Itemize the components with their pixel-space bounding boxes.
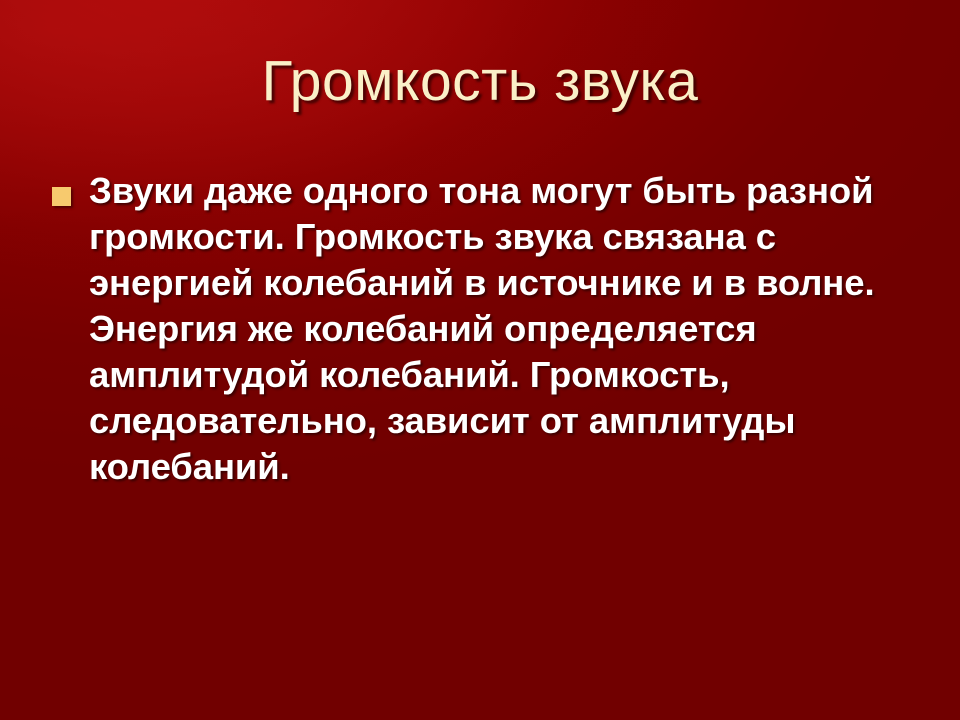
bullet-list-item: Звуки даже одного тона могут быть разной… [52,168,924,490]
slide-body-placeholder: Звуки даже одного тона могут быть разной… [52,168,924,490]
slide-title-placeholder: Громкость звука [0,52,960,112]
square-bullet-icon [52,187,71,206]
slide-title: Громкость звука [262,52,699,112]
presentation-slide: Громкость звука Звуки даже одного тона м… [0,0,960,720]
bullet-item-text: Звуки даже одного тона могут быть разной… [89,168,924,490]
